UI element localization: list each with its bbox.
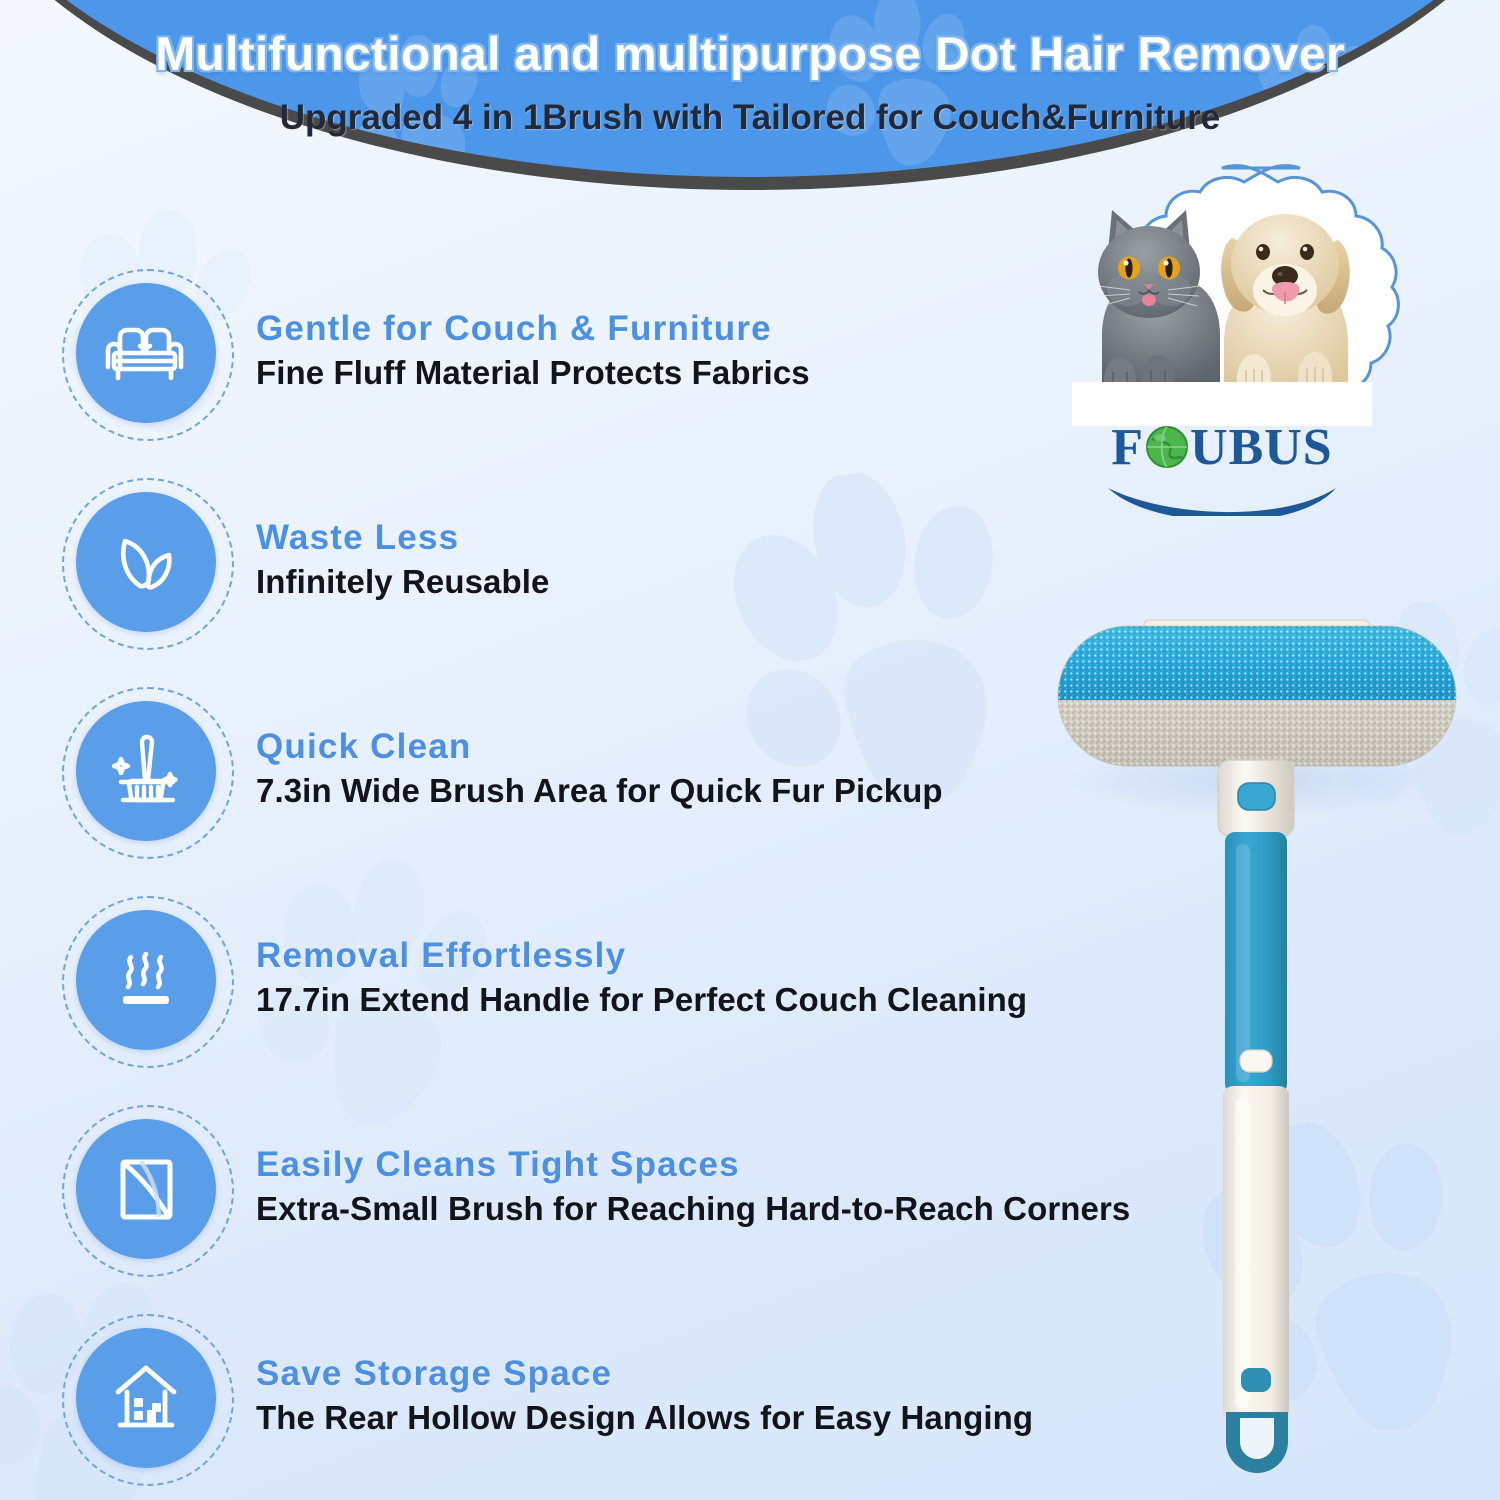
feature-heading: Save Storage Space: [256, 1353, 1033, 1394]
gray-cat: [1098, 210, 1220, 401]
feature-icon-badge: [58, 892, 234, 1068]
house-icon: [96, 1348, 196, 1448]
feature-icon-badge: [58, 683, 234, 859]
page-title: Multifunctional and multipurpose Dot Hai…: [0, 26, 1500, 81]
handle-lower-slot: [1241, 1368, 1271, 1392]
feature-icon-badge: [58, 1101, 234, 1277]
feature-heading: Quick Clean: [256, 726, 943, 767]
feature-heading: Easily Cleans Tight Spaces: [256, 1144, 1130, 1185]
feature-subtext: Fine Fluff Material Protects Fabrics: [256, 354, 810, 393]
feature-icon-badge: [58, 265, 234, 441]
feature-heading: Waste Less: [256, 517, 549, 558]
heat-waves-icon: [96, 930, 196, 1030]
feature-subtext: Infinitely Reusable: [256, 563, 549, 602]
sofa-icon: [96, 303, 196, 403]
feature-subtext: 7.3in Wide Brush Area for Quick Fur Pick…: [256, 772, 943, 811]
leaf-icon: [96, 512, 196, 612]
release-button: [1238, 783, 1275, 810]
hanging-loop: [1226, 1412, 1288, 1473]
brush-head: [1058, 626, 1456, 766]
pet-photo-badge: F UBUS: [1022, 162, 1422, 532]
globe-icon: [1144, 424, 1190, 482]
page-subtitle: Upgraded 4 in 1Brush with Tailored for C…: [0, 98, 1500, 138]
handle-lower-section: [1223, 1086, 1289, 1420]
logo-swoosh: [1094, 482, 1350, 516]
feature-heading: Removal Effortlessly: [256, 935, 1027, 976]
golden-retriever-dog: [1221, 214, 1350, 402]
broom-icon: [96, 721, 196, 821]
tight-space-icon: [96, 1139, 196, 1239]
brand-logo: F UBUS: [1094, 420, 1350, 504]
pet-hair-remover-brush: [1040, 600, 1480, 1490]
handle-upper-section: [1225, 832, 1287, 1094]
cat-and-dog-photo: [1072, 186, 1372, 426]
feature-icon-badge: [58, 1310, 234, 1486]
brush-neck: [1218, 760, 1294, 836]
infographic-page: Multifunctional and multipurpose Dot Hai…: [0, 0, 1500, 1500]
brand-name-part-2: UBUS: [1190, 419, 1333, 476]
handle-upper-slot: [1240, 1050, 1272, 1072]
brand-name-part-1: F: [1111, 419, 1144, 476]
feature-heading: Gentle for Couch & Furniture: [256, 308, 810, 349]
feature-subtext: Extra-Small Brush for Reaching Hard-to-R…: [256, 1190, 1130, 1229]
brand-name: F UBUS: [1094, 420, 1350, 482]
feature-subtext: The Rear Hollow Design Allows for Easy H…: [256, 1399, 1033, 1438]
feature-subtext: 17.7in Extend Handle for Perfect Couch C…: [256, 981, 1027, 1020]
feature-icon-badge: [58, 474, 234, 650]
